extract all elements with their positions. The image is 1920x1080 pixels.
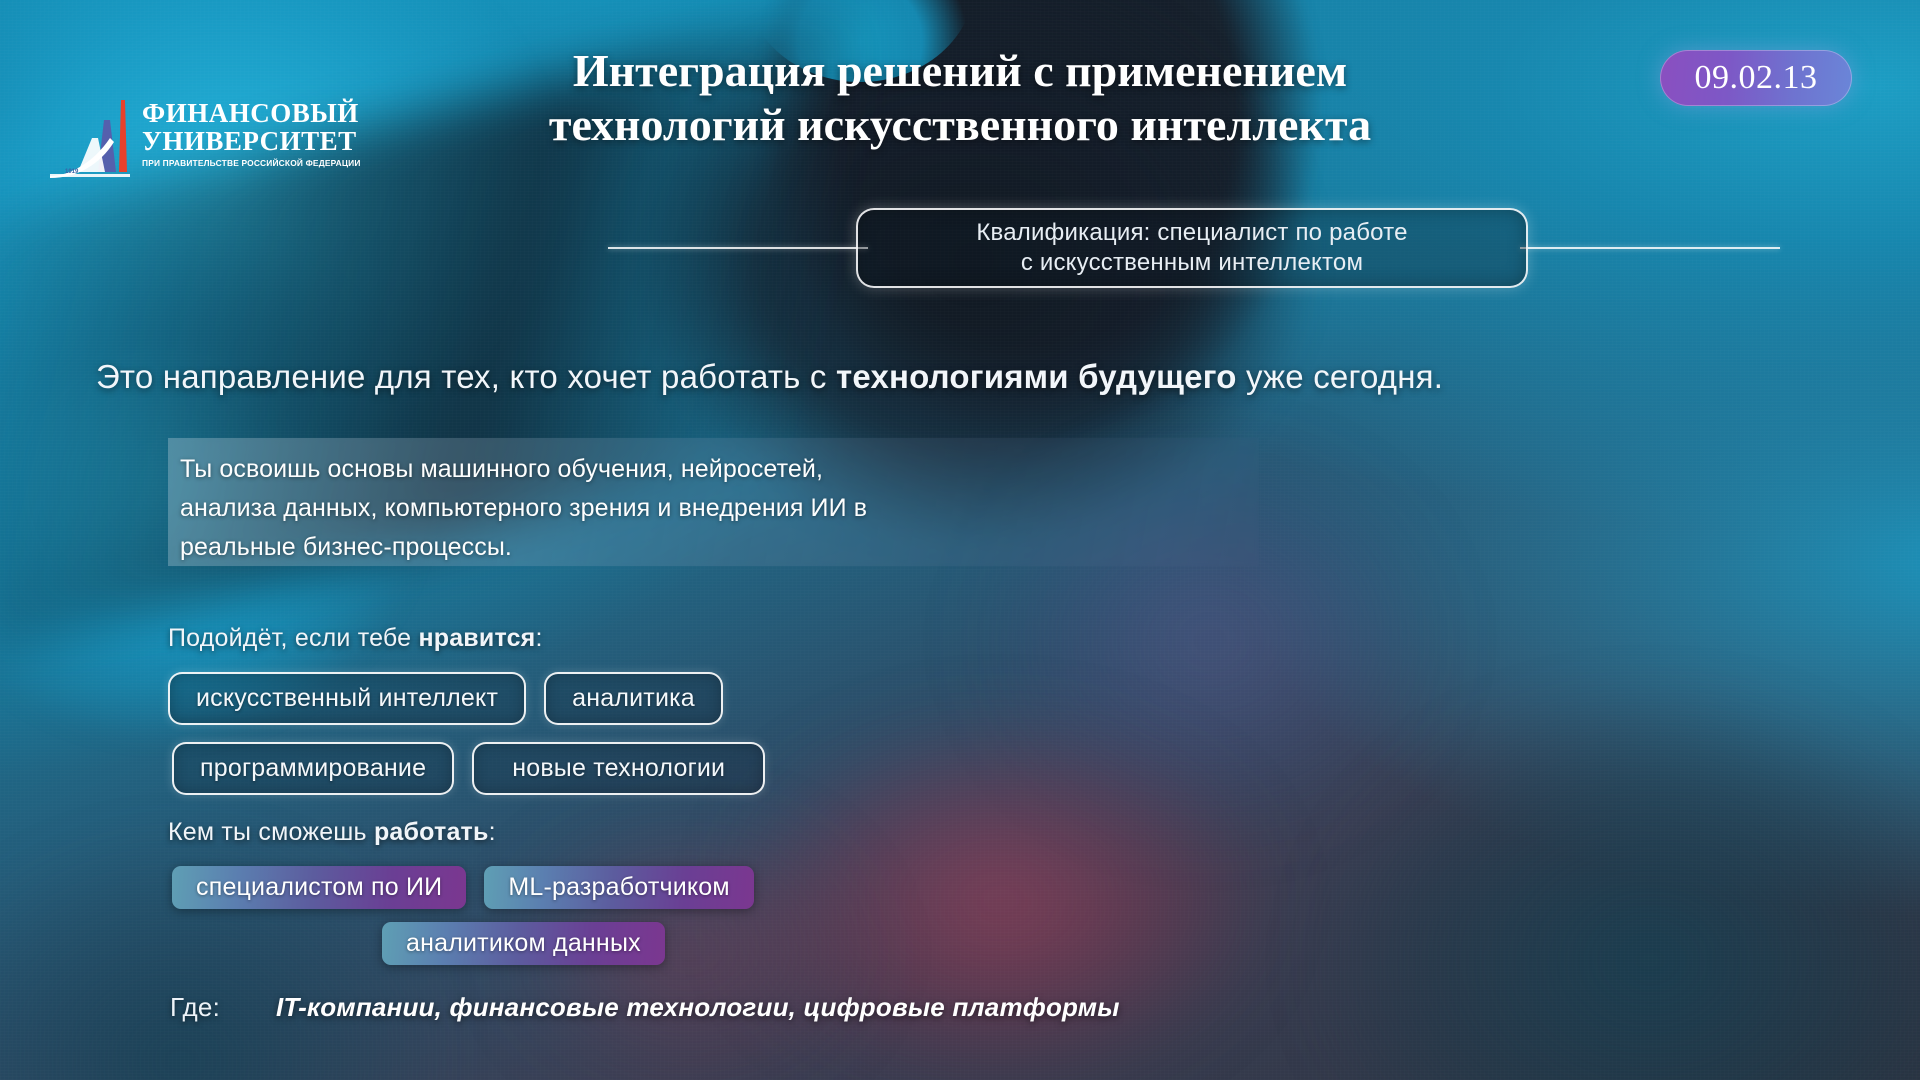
likes-pill-analytics[interactable]: аналитика [544,672,723,725]
jobs-label-colon: : [489,818,496,846]
likes-pill-row-2: программирование новые технологии [172,742,765,795]
logo-line-3: ПРИ ПРАВИТЕЛЬСТВЕ РОССИЙСКОЙ ФЕДЕРАЦИИ [142,158,361,168]
qualification-line-2: с искусственным интеллектом [976,248,1407,278]
page-title-line-2: технологий искусственного интеллекта [400,98,1520,152]
qualification-box: Квалификация: специалист по работе с иск… [856,208,1528,288]
qualification-line-1: Квалификация: специалист по работе [976,218,1407,248]
jobs-label-bold: работать [374,818,489,846]
job-pill-ai-specialist[interactable]: специалистом по ИИ [172,866,466,909]
likes-label-bold: нравится [418,624,535,652]
page-title-line-1: Интеграция решений с применением [573,45,1347,96]
qualification-rule-left [608,247,868,249]
logo-line-2: УНИВЕРСИТЕТ [142,128,361,156]
logo-wordmark: ФИНАНСОВЫЙ УНИВЕРСИТЕТ ПРИ ПРАВИТЕЛЬСТВЕ… [142,94,361,168]
jobs-pill-row-1: специалистом по ИИ ML-разработчиком [172,866,754,909]
logo-sail-icon: 1919 [48,98,136,184]
likes-pill-row-1: искусственный интеллект аналитика [168,672,723,725]
job-pill-data-analyst[interactable]: аналитиком данных [382,922,665,965]
where-value: IT-компании, финансовые технологии, цифр… [276,992,1120,1023]
jobs-pill-row-2: аналитиком данных [382,922,665,965]
jobs-label-plain: Кем ты сможешь [168,818,374,846]
likes-label-colon: : [535,624,542,652]
likes-pill-ai[interactable]: искусственный интеллект [168,672,526,725]
description-line-3: реальные бизнес-процессы. [180,528,1259,567]
lead-part-2: уже сегодня. [1237,358,1444,395]
likes-section-label: Подойдёт, если тебе нравится: [168,624,543,653]
university-logo: 1919 ФИНАНСОВЫЙ УНИВЕРСИТЕТ ПРИ ПРАВИТЕЛ… [48,94,378,194]
likes-pill-new-tech[interactable]: новые технологии [472,742,765,795]
likes-pill-programming[interactable]: программирование [172,742,454,795]
qualification-rule-right [1520,247,1780,249]
description-line-2: анализа данных, компьютерного зрения и в… [180,489,1259,528]
lead-part-1: Это направление для тех, кто хочет работ… [96,358,836,395]
description-line-1: Ты освоишь основы машинного обучения, не… [180,450,1259,489]
slide-content: 1919 ФИНАНСОВЫЙ УНИВЕРСИТЕТ ПРИ ПРАВИТЕЛ… [0,0,1920,1080]
lead-highlight: технологиями будущего [836,358,1237,395]
svg-text:1919: 1919 [65,169,79,175]
description-panel: Ты освоишь основы машинного обучения, не… [168,438,1259,566]
lead-statement: Это направление для тех, кто хочет работ… [96,358,1886,396]
logo-line-1: ФИНАНСОВЫЙ [142,100,361,128]
job-pill-ml-developer[interactable]: ML-разработчиком [484,866,753,909]
where-label: Где: [170,992,220,1023]
where-row: Где: IT-компании, финансовые технологии,… [170,992,1120,1023]
likes-label-plain: Подойдёт, если тебе [168,624,418,652]
program-code-badge: 09.02.13 [1660,50,1852,106]
jobs-section-label: Кем ты сможешь работать: [168,818,496,847]
page-title: Интеграция решений с применением техноло… [400,44,1520,152]
